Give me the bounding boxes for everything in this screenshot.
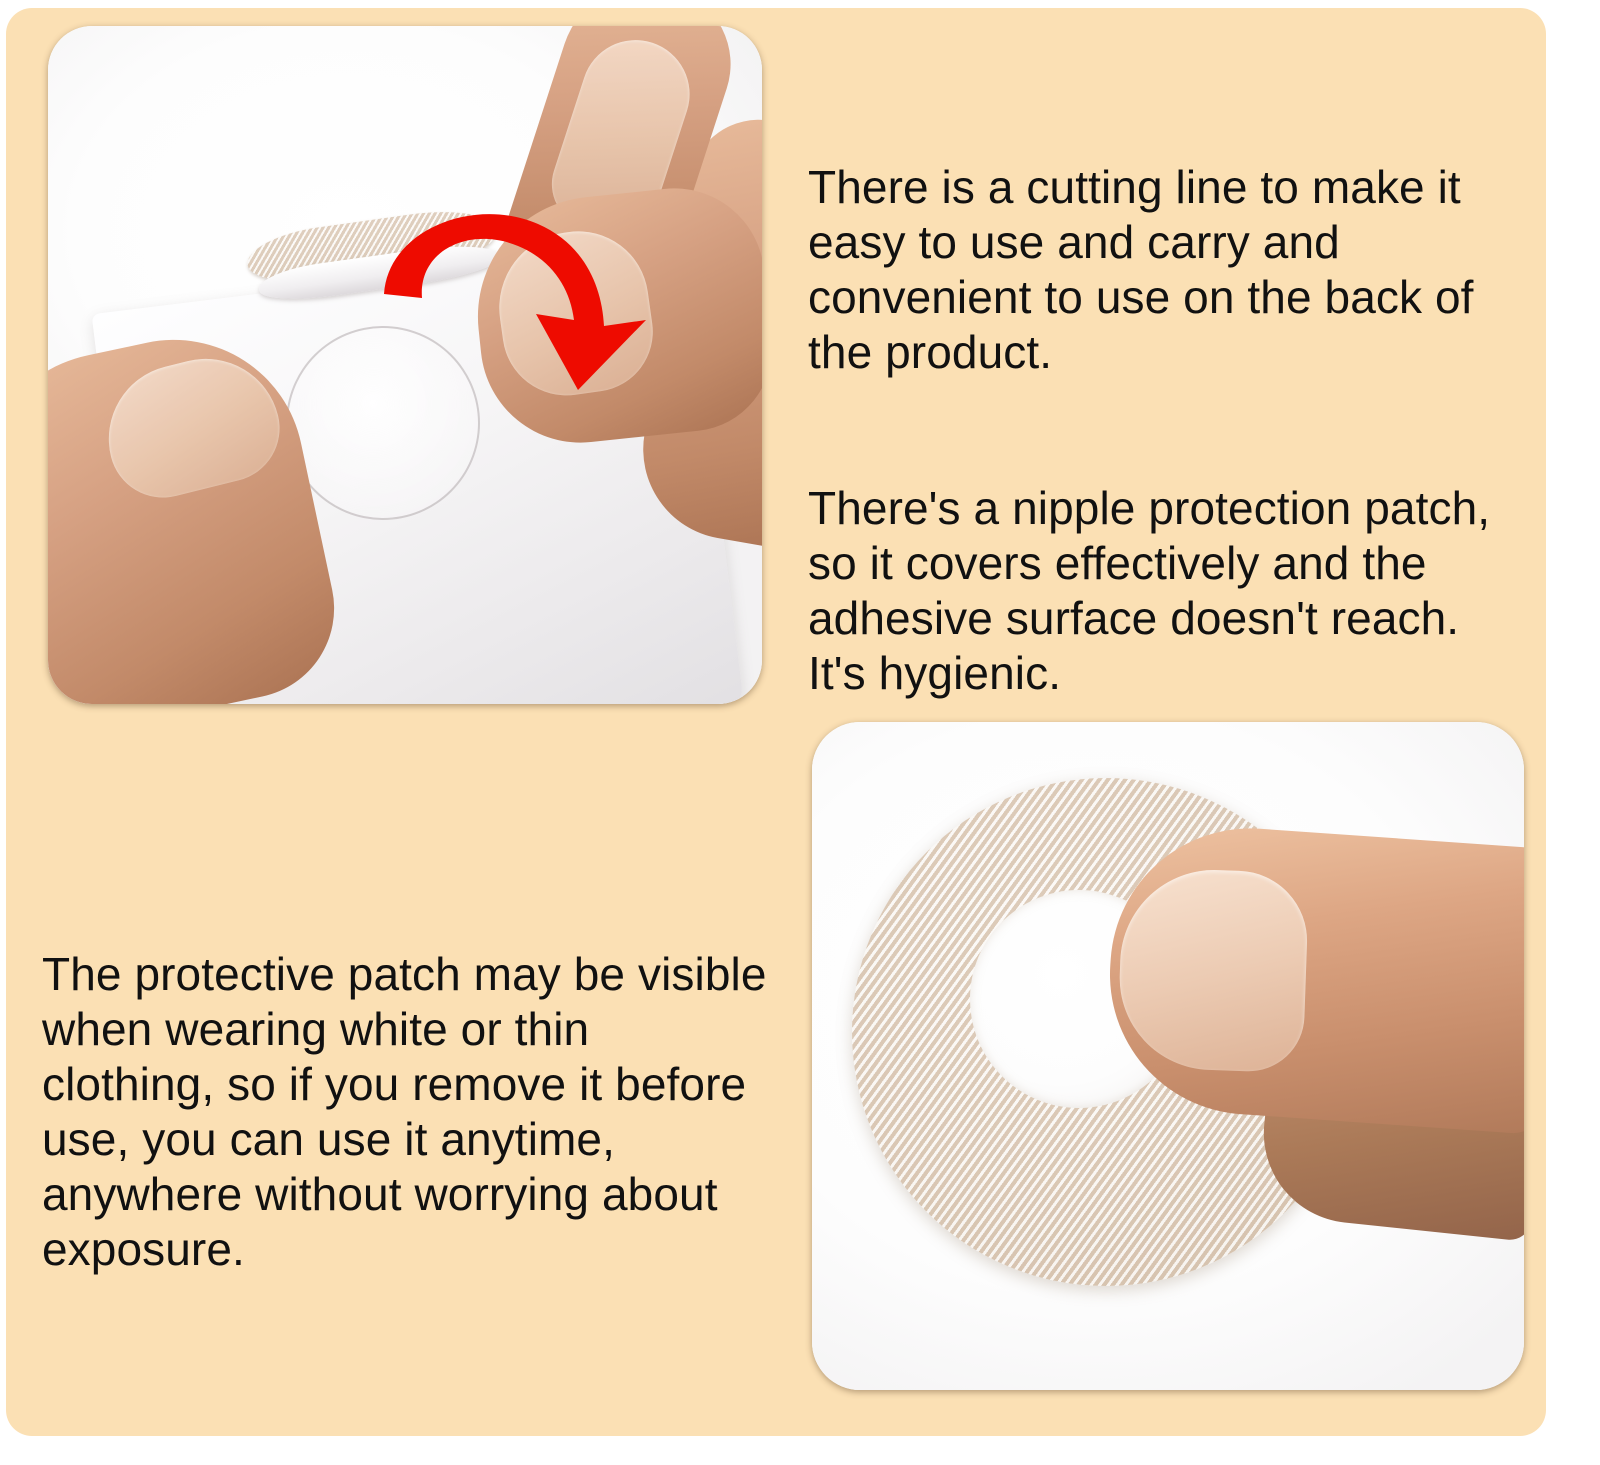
patch-photo: [812, 722, 1524, 1390]
top-right-copy-block: There is a cutting line to make it easy …: [808, 105, 1508, 756]
infographic-page: There is a cutting line to make it easy …: [0, 0, 1600, 1465]
peel-photo: [48, 26, 762, 704]
curved-down-right-arrow-icon: [378, 202, 648, 392]
bottom-left-copy-block: The protective patch may be visible when…: [42, 892, 772, 1332]
paragraph-nipple-protection: There's a nipple protection patch, so it…: [808, 481, 1508, 701]
paragraph-cutting-line: There is a cutting line to make it easy …: [808, 160, 1508, 380]
paragraph-protective-patch-visibility: The protective patch may be visible when…: [42, 947, 772, 1277]
